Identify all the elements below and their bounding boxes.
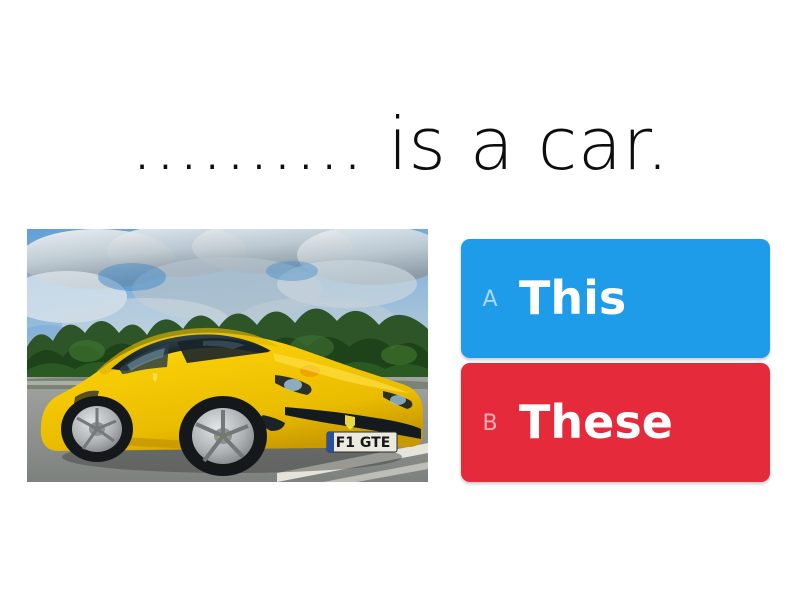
question-image-panel: F1 GTE <box>27 229 428 482</box>
car-photo: F1 GTE <box>27 229 428 482</box>
answer-option-a[interactable]: A This <box>461 239 770 358</box>
answer-label-b: These <box>519 399 770 447</box>
answer-label-a: This <box>519 275 770 323</box>
answer-letter-a: A <box>461 287 519 311</box>
question-bar: .......... is a car. <box>0 96 800 192</box>
license-plate: F1 GTE <box>327 432 397 452</box>
answer-options-panel: A This B These <box>461 239 770 482</box>
answer-option-b[interactable]: B These <box>461 363 770 482</box>
svg-text:F1 GTE: F1 GTE <box>336 435 391 451</box>
quiz-stage: .......... is a car. <box>0 0 800 600</box>
question-text: .......... is a car. <box>131 108 670 180</box>
answer-letter-b: B <box>461 411 519 435</box>
